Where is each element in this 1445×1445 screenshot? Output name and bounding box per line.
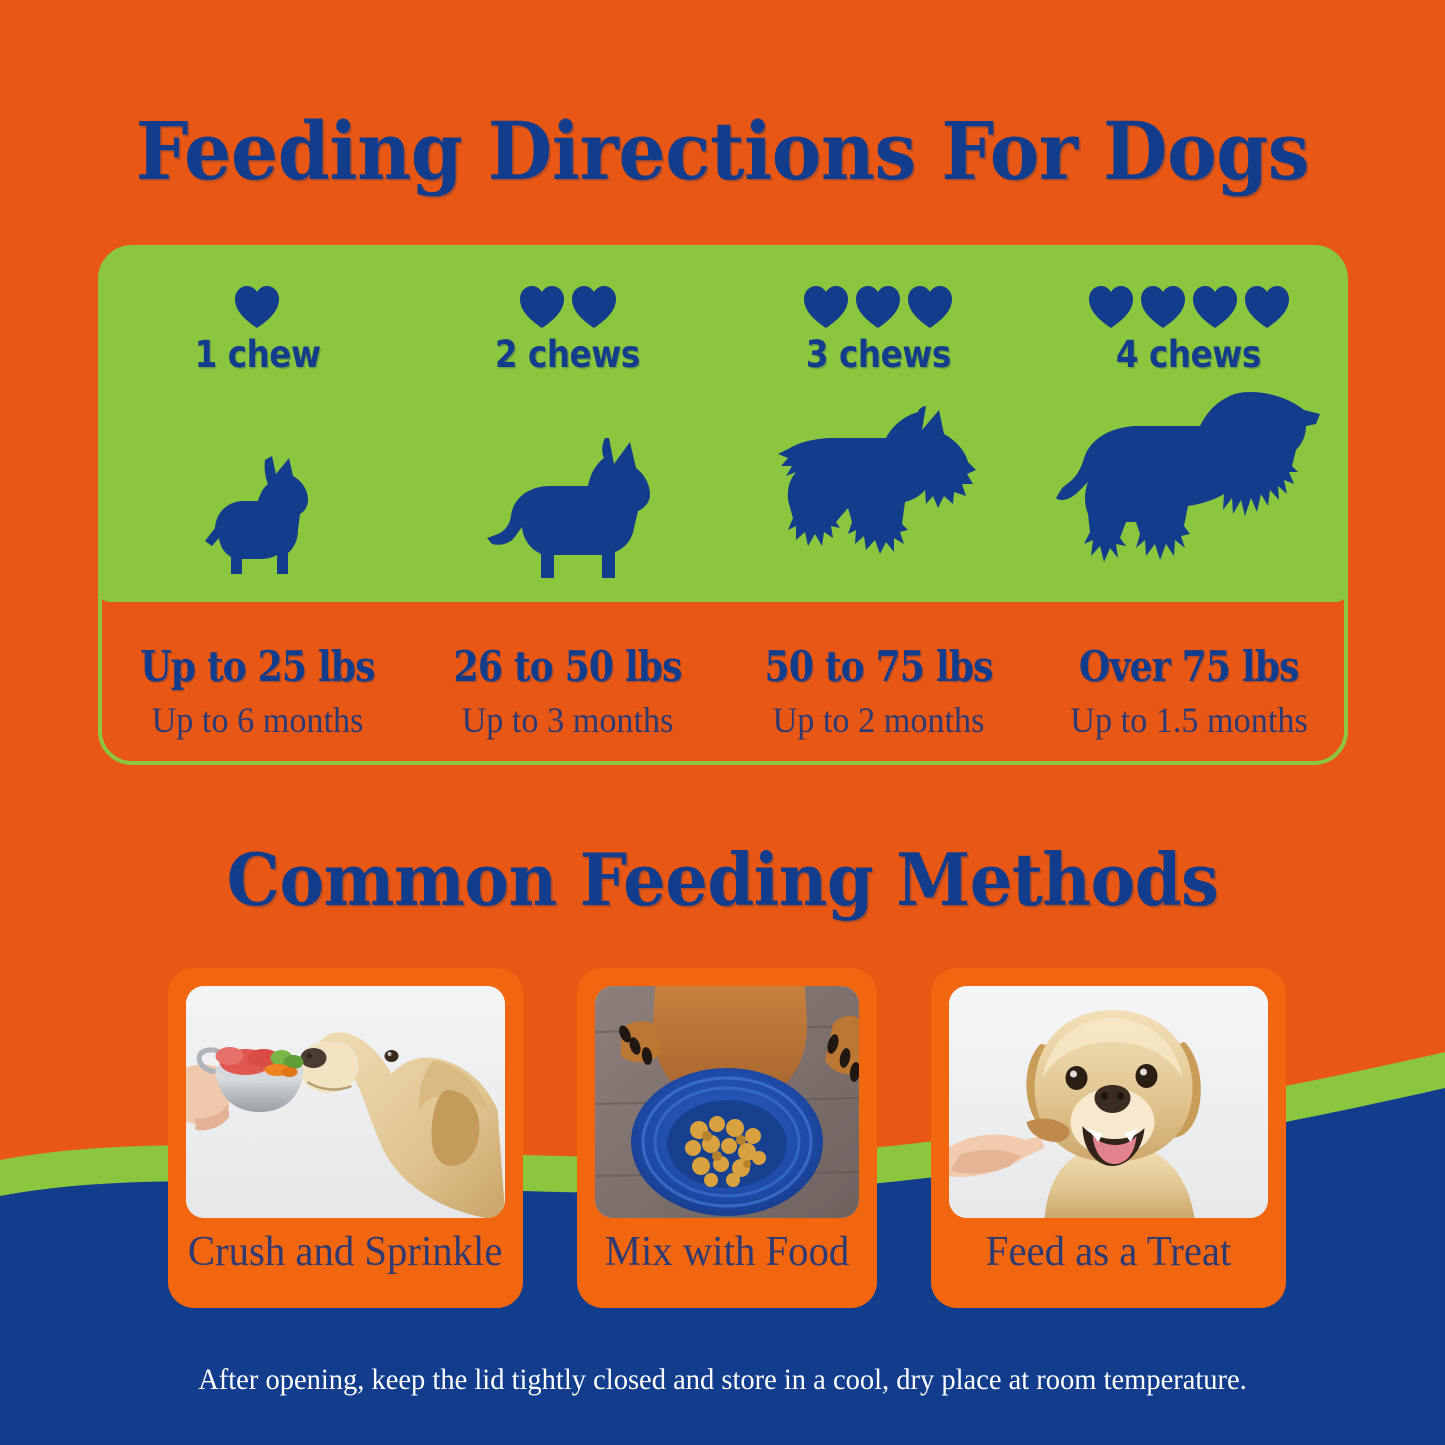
small-dog-silhouette — [198, 448, 316, 584]
chew-count-icons-1 — [234, 267, 280, 329]
methods-section-title: Common Feeding Methods — [51, 840, 1395, 920]
storage-instructions-note: After opening, keep the lid tightly clos… — [36, 1363, 1409, 1397]
feeding-directions-chart: 1 chew Up to 25 lbs Up to 6 months 2 che… — [98, 245, 1348, 765]
photo-illustration — [949, 986, 1268, 1218]
dog-size-column-3: 3 chews 50 to 75 lbs Up to 2 months — [723, 249, 1034, 761]
chew-count-icons-2 — [519, 267, 617, 329]
weight-range-1: Up to 25 lbs — [140, 642, 375, 691]
chew-heart-icon — [571, 285, 617, 329]
method-card-crush-and-sprinkle[interactable]: Crush and Sprinkle — [168, 968, 523, 1308]
photo-illustration — [186, 986, 505, 1218]
chew-heart-icon — [234, 285, 280, 329]
page-title: Feeding Directions For Dogs — [51, 108, 1395, 194]
dog-size-column-1: 1 chew Up to 25 lbs Up to 6 months — [102, 249, 413, 761]
feeding-methods-cards: Crush and Sprinkle — [168, 968, 1286, 1308]
chart-columns: 1 chew Up to 25 lbs Up to 6 months 2 che… — [102, 249, 1344, 761]
chew-heart-icon — [1244, 285, 1290, 329]
chew-count-icons-3 — [803, 267, 953, 329]
dog-size-column-2: 2 chews 26 to 50 lbs Up to 3 months — [413, 249, 724, 761]
hand-feeding-dog-treat-photo — [949, 986, 1268, 1218]
chew-heart-icon — [1088, 285, 1134, 329]
dog-sniffing-food-bowl-photo — [186, 986, 505, 1218]
medium-dog-icon — [484, 384, 652, 584]
large-dog-icon — [776, 384, 981, 584]
dog-size-column-4: 4 chews Over 75 lbs Up to 1.5 months — [1034, 249, 1345, 761]
method-card-feed-as-a-treat[interactable]: Feed as a Treat — [931, 968, 1286, 1308]
duration-1: Up to 6 months — [151, 699, 363, 741]
weight-range-3: 50 to 75 lbs — [764, 642, 992, 691]
chew-label-3: 3 chews — [806, 333, 951, 376]
chew-heart-icon — [519, 285, 565, 329]
extra-large-dog-icon — [1054, 384, 1324, 584]
retriever-silhouette — [1054, 388, 1324, 584]
chew-heart-icon — [1192, 285, 1238, 329]
chew-heart-icon — [907, 285, 953, 329]
chew-label-2: 2 chews — [495, 333, 640, 376]
schnauzer-silhouette — [776, 404, 981, 584]
dog-eating-kibble-bowl-photo — [595, 986, 859, 1218]
duration-2: Up to 3 months — [462, 699, 674, 741]
chew-label-4: 4 chews — [1116, 333, 1261, 376]
medium-dog-silhouette — [484, 434, 652, 584]
small-dog-icon — [198, 384, 316, 584]
duration-4: Up to 1.5 months — [1070, 699, 1308, 741]
method-caption-1: Crush and Sprinkle — [188, 1228, 503, 1276]
chew-heart-icon — [803, 285, 849, 329]
chew-label-1: 1 chew — [194, 333, 320, 376]
chew-count-icons-4 — [1088, 267, 1290, 329]
chew-heart-icon — [1140, 285, 1186, 329]
weight-range-2: 26 to 50 lbs — [454, 642, 682, 691]
photo-illustration — [595, 986, 859, 1218]
duration-3: Up to 2 months — [772, 699, 984, 741]
weight-range-4: Over 75 lbs — [1079, 642, 1299, 691]
method-caption-3: Feed as a Treat — [986, 1228, 1232, 1276]
method-caption-2: Mix with Food — [605, 1228, 849, 1276]
method-card-mix-with-food[interactable]: Mix with Food — [577, 968, 877, 1308]
chew-heart-icon — [855, 285, 901, 329]
